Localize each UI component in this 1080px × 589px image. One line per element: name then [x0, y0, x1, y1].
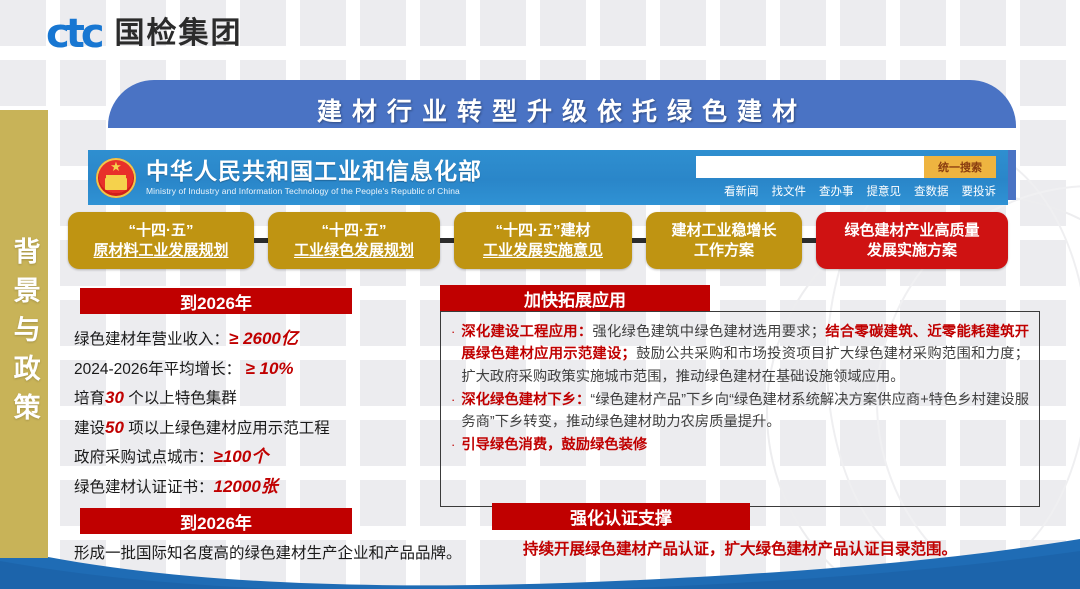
right-footer-text: 持续开展绿色建材产品认证，扩大绿色建材产品认证目录范围。 [440, 537, 1040, 559]
policy-label-line2: 发展实施方案 [867, 241, 957, 260]
policy-label-line2: 工作方案 [694, 241, 754, 260]
policy-button-row: “十四·五” 原材料工业发展规划 “十四·五” 工业绿色发展规划 “十四·五”建… [68, 212, 1028, 269]
miit-nav-item-services[interactable]: 查办事 [819, 183, 854, 199]
bullet-lead: 深化建设工程应用： [461, 324, 592, 340]
policy-connector [802, 238, 816, 243]
target-label: 绿色建材认证证书： [74, 479, 214, 496]
policy-connector [440, 238, 454, 243]
target-value: 12000张 [214, 477, 278, 496]
list-item: 政府采购试点城市：≥100个 [74, 444, 454, 470]
policy-label-line1: “十四·五”建材 [496, 221, 591, 240]
bullet-mid: 强化绿色建筑中绿色建材选用要求； [592, 324, 825, 340]
policy-button-building-material[interactable]: “十四·五”建材 工业发展实施意见 [454, 212, 632, 269]
policy-label-line1: 绿色建材产业高质量 [844, 221, 979, 240]
target-label: 2024-2026年平均增长： [74, 361, 241, 378]
list-item: 2024-2026年平均增长： ≥ 10% [74, 356, 454, 382]
left-heading-2026-brands: 到2026年 [80, 508, 352, 534]
target-label: 政府采购试点城市： [74, 449, 214, 466]
brand-logo: ctc 国检集团 [46, 14, 243, 54]
miit-site-bar: 中华人民共和国工业和信息化部 Ministry of Industry and … [88, 150, 1008, 205]
right-heading-certification: 强化认证支撑 [492, 503, 750, 530]
left-target-list: 绿色建材年营业收入：≥ 2600亿 2024-2026年平均增长： ≥ 10% … [74, 326, 454, 499]
bullet-text: 深化绿色建材下乡：“绿色建材产品”下乡向“绿色建材系统解决方案供应商+特色乡村建… [461, 389, 1029, 434]
miit-name-en: Ministry of Industry and Information Tec… [146, 186, 482, 196]
miit-nav-item-data[interactable]: 查数据 [914, 183, 949, 199]
national-emblem-icon [96, 158, 136, 198]
banner-white-gap [108, 128, 1016, 150]
policy-label-line2: 工业发展实施意见 [483, 241, 603, 260]
policy-button-raw-material[interactable]: “十四·五” 原材料工业发展规划 [68, 212, 254, 269]
right-content-box: · 深化建设工程应用：强化绿色建筑中绿色建材选用要求；结合零碳建筑、近零能耗建筑… [440, 311, 1040, 507]
miit-search-block: 统一搜索 看新闻 找文件 查办事 提意见 查数据 要投诉 [696, 156, 996, 199]
target-value: 50 [105, 418, 124, 437]
policy-button-steady-growth[interactable]: 建材工业稳增长 工作方案 [646, 212, 802, 269]
list-item: 培育30 个以上特色集群 [74, 385, 454, 411]
list-item: · 引导绿色消费，鼓励绿色装修 [451, 434, 1029, 456]
bullet-dot-icon: · [451, 434, 455, 456]
policy-label-line1: 建材工业稳增长 [671, 221, 776, 240]
target-value: ≥ 10% [245, 359, 293, 378]
policy-label-line2: 工业绿色发展规划 [294, 241, 414, 260]
brand-name: 国检集团 [115, 19, 243, 49]
policy-connector [254, 238, 268, 243]
bullet-text: 引导绿色消费，鼓励绿色装修 [461, 434, 1029, 456]
bullet-lead: 引导绿色消费，鼓励绿色装修 [461, 437, 647, 453]
search-input[interactable] [696, 156, 924, 178]
section-sidebar: 背景与政策 [0, 110, 48, 558]
miit-nav: 看新闻 找文件 查办事 提意见 查数据 要投诉 [724, 183, 996, 199]
policy-label-line1: “十四·五” [322, 221, 387, 240]
miit-name-cn: 中华人民共和国工业和信息化部 [146, 159, 482, 184]
miit-nav-item-complain[interactable]: 要投诉 [962, 183, 997, 199]
target-label: 建设 [74, 420, 105, 437]
policy-label-line1: “十四·五” [129, 221, 194, 240]
list-item: 绿色建材认证证书：12000张 [74, 474, 454, 500]
policy-button-high-quality[interactable]: 绿色建材产业高质量 发展实施方案 [816, 212, 1008, 269]
search-bar: 统一搜索 [696, 156, 996, 178]
bullet-lead: 深化绿色建材下乡： [461, 392, 590, 408]
policy-connector [632, 238, 646, 243]
miit-nav-item-news[interactable]: 看新闻 [724, 183, 759, 199]
unified-search-button[interactable]: 统一搜索 [924, 156, 996, 178]
policy-button-green-industry[interactable]: “十四·五” 工业绿色发展规划 [268, 212, 440, 269]
list-item: 绿色建材年营业收入：≥ 2600亿 [74, 326, 454, 352]
sidebar-label: 背景与政策 [4, 237, 43, 432]
target-tail: 项以上绿色建材应用示范工程 [128, 420, 330, 437]
target-value: 30 [105, 388, 124, 407]
target-label: 培育 [74, 390, 105, 407]
bullet-dot-icon: · [451, 321, 455, 388]
policy-label-line2: 原材料工业发展规划 [93, 241, 228, 260]
target-tail: 个以上特色集群 [128, 390, 237, 407]
bullet-text: 深化建设工程应用：强化绿色建筑中绿色建材选用要求；结合零碳建筑、近零能耗建筑开展… [461, 321, 1029, 388]
slide-canvas: ctc 国检集团 背景与政策 建材行业转型升级依托绿色建材 中华人民共和国工业和… [0, 0, 1080, 589]
left-heading-2026-targets: 到2026年 [80, 288, 352, 314]
target-value: ≥100个 [214, 447, 269, 466]
miit-name-block: 中华人民共和国工业和信息化部 Ministry of Industry and … [146, 159, 482, 196]
ctc-logo-icon: ctc [46, 14, 101, 54]
list-item: · 深化绿色建材下乡：“绿色建材产品”下乡向“绿色建材系统解决方案供应商+特色乡… [451, 389, 1029, 434]
miit-nav-item-feedback[interactable]: 提意见 [867, 183, 902, 199]
bullet-dot-icon: · [451, 389, 455, 434]
miit-nav-item-files[interactable]: 找文件 [772, 183, 807, 199]
list-item: 建设50 项以上绿色建材应用示范工程 [74, 415, 454, 441]
banner-title: 建材行业转型升级依托绿色建材 [108, 92, 1016, 128]
list-item: · 深化建设工程应用：强化绿色建筑中绿色建材选用要求；结合零碳建筑、近零能耗建筑… [451, 321, 1029, 388]
right-heading-expand-application: 加快拓展应用 [440, 285, 710, 312]
target-label: 绿色建材年营业收入： [74, 331, 229, 348]
target-value: ≥ 2600亿 [229, 329, 298, 348]
